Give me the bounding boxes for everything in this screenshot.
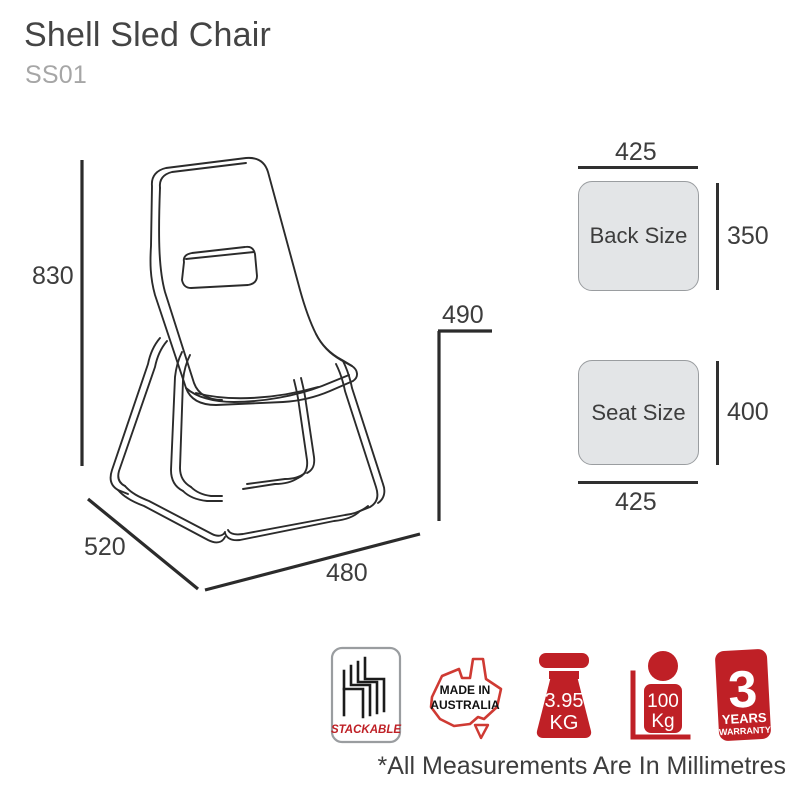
dim-label-depth: 520 — [84, 533, 126, 562]
product-model-code: SS01 — [25, 62, 87, 88]
stackable-icon-label: STACKABLE — [331, 724, 401, 736]
product-weight-icon: 3.95 KG — [525, 645, 603, 745]
back-size-width-label: 425 — [615, 138, 657, 167]
dim-label-overall-height: 830 — [32, 262, 74, 291]
product-weight-value: 3.95 — [545, 690, 584, 712]
weight-capacity-value: 100 — [647, 691, 679, 712]
feature-icon-row: STACKABLE MADE IN AUSTRALIA 3.95 KG 100 … — [330, 645, 790, 750]
back-size-height-dim-line — [716, 183, 719, 290]
back-size-box: Back Size — [578, 181, 699, 291]
seat-size-box: Seat Size — [578, 360, 699, 465]
dim-label-seat-height: 490 — [442, 301, 484, 330]
warranty-icon: 3 YEARS WARRANTY — [704, 645, 782, 745]
measurements-footnote: *All Measurements Are In Millimetres — [378, 752, 786, 781]
product-weight-unit: KG — [550, 712, 579, 734]
back-size-box-label: Back Size — [590, 223, 688, 249]
seat-size-width-label: 425 — [615, 488, 657, 517]
stackable-icon: STACKABLE — [330, 645, 402, 745]
made-in-australia-icon: MADE IN AUSTRALIA — [418, 645, 510, 745]
made-in-australia-line1: MADE IN — [440, 683, 491, 697]
dim-label-width: 480 — [326, 559, 368, 588]
dim-line-width — [205, 534, 420, 590]
seat-size-height-label: 400 — [727, 398, 769, 427]
back-size-height-label: 350 — [727, 222, 769, 251]
page-title: Shell Sled Chair — [24, 18, 271, 54]
weight-capacity-unit: Kg — [651, 711, 674, 732]
seat-size-box-label: Seat Size — [591, 400, 685, 426]
weight-capacity-icon: 100 Kg — [626, 645, 698, 745]
seat-size-width-dim-line — [578, 481, 698, 484]
made-in-australia-line2: AUSTRALIA — [430, 698, 500, 712]
seat-size-height-dim-line — [716, 361, 719, 465]
